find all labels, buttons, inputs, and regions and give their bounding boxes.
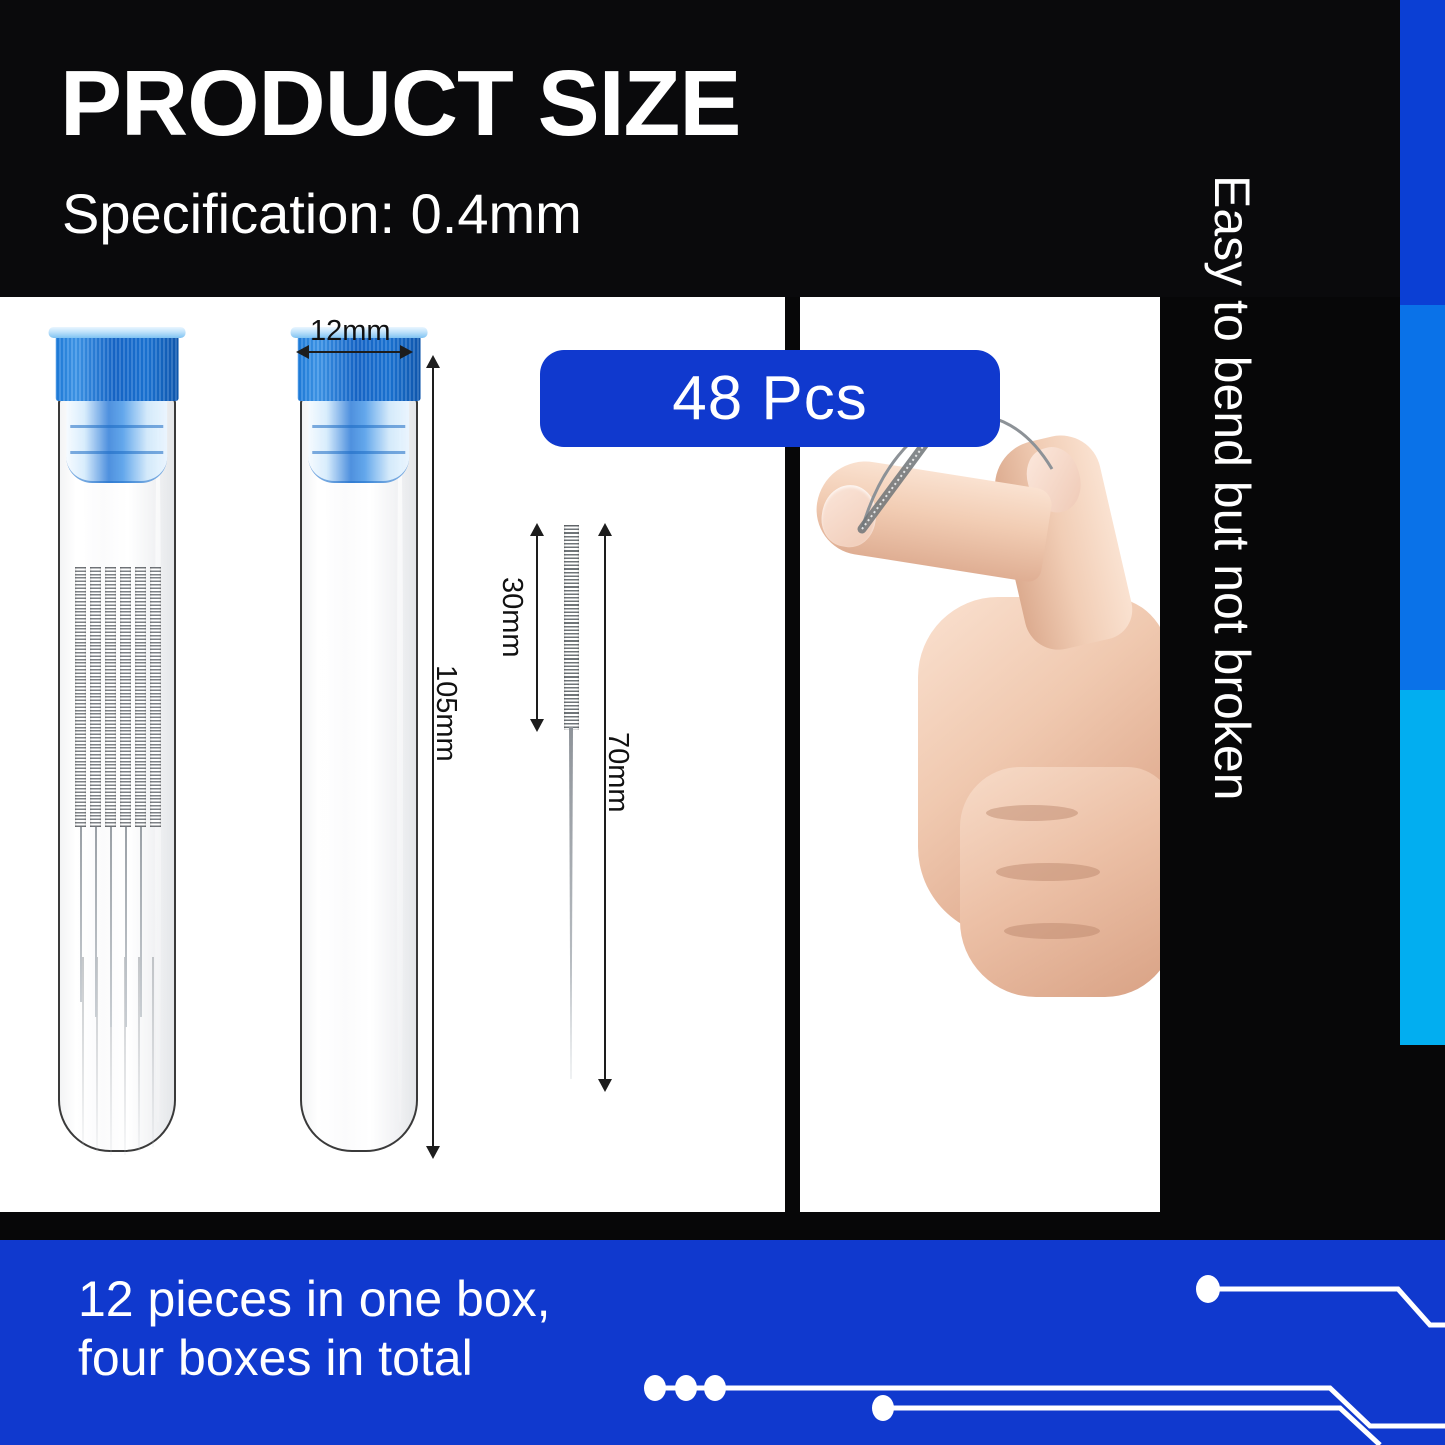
test-tube-with-brushes bbox=[58, 397, 176, 1152]
needle-tail bbox=[110, 827, 112, 1027]
bottom-banner: 12 pieces in one box, four boxes in tota… bbox=[0, 1240, 1445, 1445]
coil-dimension-line bbox=[536, 535, 538, 720]
brush-strand bbox=[75, 567, 86, 827]
brush-strand bbox=[135, 567, 146, 827]
stopper-line bbox=[312, 451, 405, 454]
total-length-arrow-top bbox=[598, 523, 612, 536]
width-arrow-right bbox=[400, 345, 413, 359]
total-length-dimension-label: 70mm bbox=[601, 732, 634, 813]
stopper-line bbox=[70, 451, 163, 454]
accent-bar-cyan bbox=[1400, 690, 1445, 1045]
specification-label: Specification: 0.4mm bbox=[62, 186, 582, 242]
needle-shaft bbox=[569, 727, 573, 1079]
width-arrow-left bbox=[296, 345, 309, 359]
quantity-badge: 48 Pcs bbox=[540, 350, 1000, 447]
needle-coil-section bbox=[564, 525, 579, 730]
needle-tail bbox=[80, 827, 82, 1002]
height-arrow-bottom bbox=[426, 1146, 440, 1159]
brush-strand bbox=[90, 567, 101, 827]
tube-cap-rim bbox=[49, 327, 186, 338]
brush-strand bbox=[105, 567, 116, 827]
total-length-arrow-bottom bbox=[598, 1079, 612, 1092]
tube-highlight bbox=[317, 420, 329, 1130]
stopper-line bbox=[70, 425, 163, 428]
needle-tail bbox=[140, 827, 142, 1017]
height-arrow-top bbox=[426, 355, 440, 368]
tube-stopper bbox=[308, 399, 409, 483]
brush-bundle bbox=[75, 567, 161, 827]
tube-highlight-secondary bbox=[397, 427, 403, 1122]
accent-bar-medium-blue bbox=[1400, 305, 1445, 690]
width-dimension-label: 12mm bbox=[310, 315, 391, 348]
tube-stopper bbox=[66, 399, 167, 483]
needle-tail bbox=[125, 827, 127, 1027]
page-title: PRODUCT SIZE bbox=[60, 57, 740, 150]
brush-strand bbox=[150, 567, 161, 827]
coil-arrow-bottom bbox=[530, 719, 544, 732]
test-tube-empty bbox=[300, 397, 418, 1152]
tube-rib bbox=[152, 957, 154, 1147]
tube-cap bbox=[56, 335, 179, 401]
bottom-black-strip bbox=[0, 1212, 1445, 1240]
side-vertical-text: Easy to bend but not broken bbox=[1202, 175, 1262, 1025]
stopper-line bbox=[312, 425, 405, 428]
height-dimension-label: 105mm bbox=[429, 665, 462, 762]
accent-bar-dark-blue bbox=[1400, 0, 1445, 305]
tube-rib bbox=[82, 957, 84, 1147]
banner-text: 12 pieces in one box, four boxes in tota… bbox=[78, 1270, 551, 1388]
needle-tail bbox=[95, 827, 97, 1017]
width-dimension-line bbox=[302, 351, 408, 353]
brush-strand bbox=[120, 567, 131, 827]
coil-dimension-label: 30mm bbox=[495, 577, 528, 658]
coil-arrow-top bbox=[530, 523, 544, 536]
